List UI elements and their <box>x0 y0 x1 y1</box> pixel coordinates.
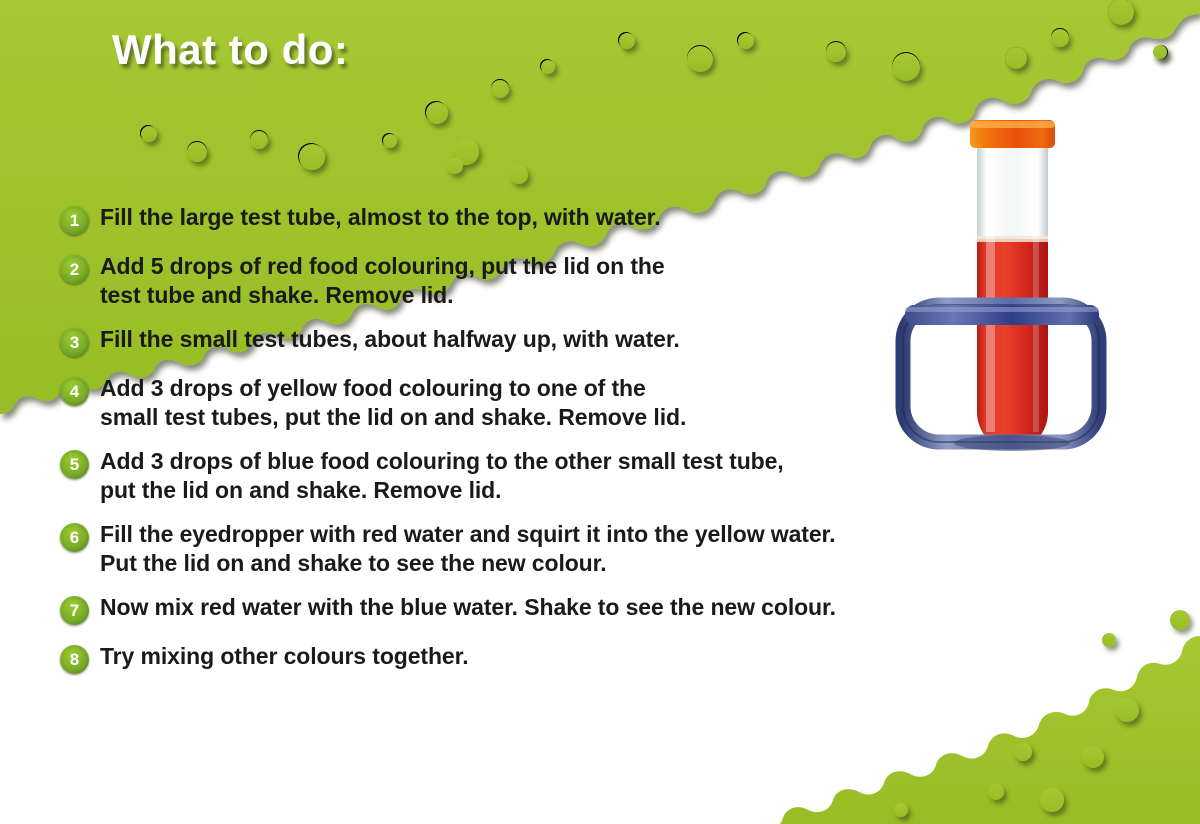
step-text-line: Now mix red water with the blue water. S… <box>100 593 836 622</box>
step-number-badge: 3 <box>60 328 89 357</box>
step-text-line: Add 3 drops of blue food colouring to th… <box>100 447 784 476</box>
step-text-line: small test tubes, put the lid on and sha… <box>100 403 686 432</box>
step-number-badge: 4 <box>60 377 89 406</box>
step-text-line: Add 5 drops of red food colouring, put t… <box>100 252 665 281</box>
test-tube-lid <box>970 120 1055 148</box>
step-text-line: test tube and shake. Remove lid. <box>100 281 665 310</box>
step-number-badge: 5 <box>60 450 89 479</box>
step-text: Try mixing other colours together. <box>100 642 469 671</box>
step-text: Add 3 drops of blue food colouring to th… <box>100 447 784 506</box>
step-text: Now mix red water with the blue water. S… <box>100 593 836 622</box>
list-item: 6 Fill the eyedropper with red water and… <box>60 520 1120 579</box>
step-text: Add 3 drops of yellow food colouring to … <box>100 374 686 433</box>
step-text-line: Fill the small test tubes, about halfway… <box>100 325 680 354</box>
step-number-label: 2 <box>70 261 79 278</box>
step-number-badge: 7 <box>60 596 89 625</box>
step-text-line: Fill the eyedropper with red water and s… <box>100 520 835 549</box>
step-number-label: 3 <box>70 334 79 351</box>
page-title: What to do: <box>112 26 348 74</box>
list-item: 3 Fill the small test tubes, about halfw… <box>60 325 1120 357</box>
step-text-line: put the lid on and shake. Remove lid. <box>100 476 784 505</box>
step-number-label: 6 <box>70 529 79 546</box>
step-text: Add 5 drops of red food colouring, put t… <box>100 252 665 311</box>
list-item: 7 Now mix red water with the blue water.… <box>60 593 1120 625</box>
step-number-badge: 6 <box>60 523 89 552</box>
step-number-label: 7 <box>70 602 79 619</box>
list-item: 8 Try mixing other colours together. <box>60 642 1120 674</box>
step-number-badge: 1 <box>60 206 89 235</box>
worksheet-page: What to do: <box>0 0 1200 824</box>
instruction-list: 1 Fill the large test tube, almost to th… <box>60 203 1120 691</box>
list-item: 1 Fill the large test tube, almost to th… <box>60 203 1120 235</box>
list-item: 2 Add 5 drops of red food colouring, put… <box>60 252 1120 311</box>
list-item: 5 Add 3 drops of blue food colouring to … <box>60 447 1120 506</box>
step-number-label: 4 <box>70 383 79 400</box>
list-item: 4 Add 3 drops of yellow food colouring t… <box>60 374 1120 433</box>
step-number-label: 1 <box>70 212 79 229</box>
step-number-badge: 8 <box>60 645 89 674</box>
step-text-line: Try mixing other colours together. <box>100 642 469 671</box>
step-text: Fill the small test tubes, about halfway… <box>100 325 680 354</box>
step-text-line: Add 3 drops of yellow food colouring to … <box>100 374 686 403</box>
step-number-label: 5 <box>70 456 79 473</box>
step-text-line: Fill the large test tube, almost to the … <box>100 203 661 232</box>
step-number-badge: 2 <box>60 255 89 284</box>
step-text-line: Put the lid on and shake to see the new … <box>100 549 835 578</box>
step-text: Fill the large test tube, almost to the … <box>100 203 661 232</box>
step-text: Fill the eyedropper with red water and s… <box>100 520 835 579</box>
step-number-label: 8 <box>70 651 79 668</box>
